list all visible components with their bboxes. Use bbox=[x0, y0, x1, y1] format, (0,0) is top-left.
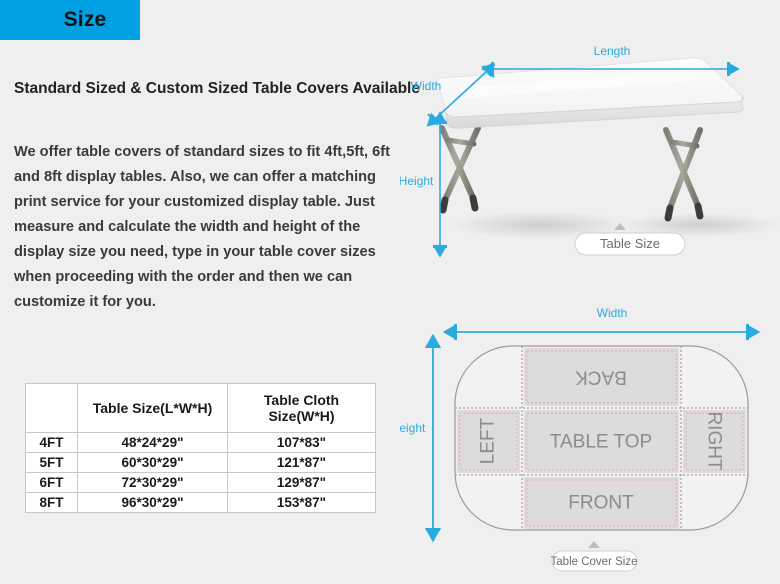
panel-front-label: FRONT bbox=[568, 493, 634, 514]
panel-front: FRONT bbox=[524, 477, 679, 529]
cover-width-label: Width bbox=[597, 306, 628, 320]
page-subheading: Standard Sized & Custom Sized Table Cove… bbox=[14, 80, 420, 98]
height-label: Height bbox=[400, 174, 434, 188]
size-banner-label: Size bbox=[64, 8, 107, 32]
length-label: Length bbox=[594, 44, 631, 58]
cell-cloth-size: 121*87" bbox=[228, 453, 376, 473]
table-cover-size-caption: Table Cover Size bbox=[551, 541, 638, 571]
panel-right: RIGHT bbox=[683, 410, 746, 473]
cell-size-label: 6FT bbox=[26, 473, 78, 493]
table-header-cell-table-size: Table Size(L*W*H) bbox=[78, 384, 228, 433]
table-row: 4FT 48*24*29" 107*83" bbox=[26, 433, 376, 453]
cell-cloth-size: 153*87" bbox=[228, 493, 376, 513]
table-size-illustration: Length Width Height Table Size bbox=[400, 40, 780, 265]
cell-table-size: 48*24*29" bbox=[78, 433, 228, 453]
cell-cloth-size: 107*83" bbox=[228, 433, 376, 453]
cell-table-size: 72*30*29" bbox=[78, 473, 228, 493]
table-row: 5FT 60*30*29" 121*87" bbox=[26, 453, 376, 473]
table-header-row: Table Size(L*W*H) Table Cloth Size(W*H) bbox=[26, 384, 376, 433]
cell-size-label: 4FT bbox=[26, 433, 78, 453]
cover-height-label: Height bbox=[400, 421, 426, 435]
size-section-banner: Size bbox=[0, 0, 140, 40]
table-row: 8FT 96*30*29" 153*87" bbox=[26, 493, 376, 513]
cell-cloth-size: 129*87" bbox=[228, 473, 376, 493]
panel-left-label: LEFT bbox=[478, 417, 499, 464]
cell-table-size: 60*30*29" bbox=[78, 453, 228, 473]
table-size-caption-label: Table Size bbox=[600, 236, 660, 251]
height-dimension: Height bbox=[400, 122, 447, 247]
cover-height-dimension: Height bbox=[400, 346, 440, 530]
cell-size-label: 8FT bbox=[26, 493, 78, 513]
table-cover-size-illustration: Width Height BACK LEFT bbox=[400, 300, 780, 584]
table-legs bbox=[442, 128, 700, 218]
cell-table-size: 96*30*29" bbox=[78, 493, 228, 513]
table-header-cell-blank bbox=[26, 384, 78, 433]
width-label: Width bbox=[411, 79, 442, 93]
cover-width-dimension: Width bbox=[455, 306, 748, 340]
size-spec-table-container: Table Size(L*W*H) Table Cloth Size(W*H) … bbox=[25, 383, 375, 513]
intro-paragraph: We offer table covers of standard sizes … bbox=[14, 140, 406, 315]
panel-table-top: TABLE TOP bbox=[524, 410, 679, 473]
table-header-cell-cloth-size: Table Cloth Size(W*H) bbox=[228, 384, 376, 433]
panel-left: LEFT bbox=[457, 410, 520, 473]
panel-table-top-label: TABLE TOP bbox=[550, 432, 652, 453]
size-spec-table: Table Size(L*W*H) Table Cloth Size(W*H) … bbox=[25, 383, 376, 513]
table-cover-size-caption-label: Table Cover Size bbox=[551, 556, 638, 568]
panel-back: BACK bbox=[524, 348, 679, 406]
cell-size-label: 5FT bbox=[26, 453, 78, 473]
panel-right-label: RIGHT bbox=[704, 411, 725, 471]
table-row: 6FT 72*30*29" 129*87" bbox=[26, 473, 376, 493]
panel-back-label: BACK bbox=[575, 367, 627, 388]
